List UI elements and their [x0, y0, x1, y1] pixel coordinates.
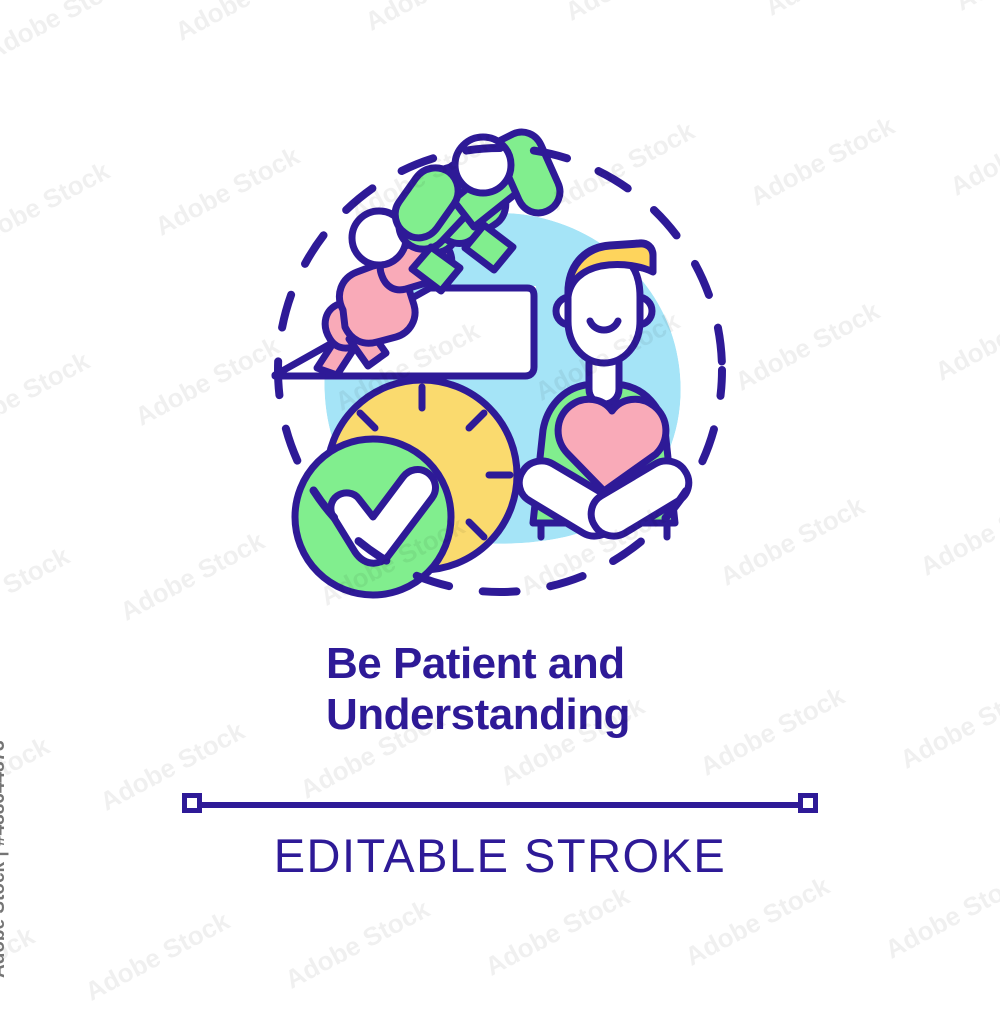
watermark-tile: Adobe Stock	[730, 295, 885, 397]
watermark-tile: Adobe Stock	[0, 540, 75, 642]
watermark-tile: Adobe Stock	[0, 345, 95, 447]
watermark-tile: Adobe Stock	[915, 480, 1000, 582]
watermark-tile: Adobe Stock	[760, 0, 915, 22]
watermark-tile: Adobe Stock	[80, 905, 235, 1007]
page-title: Be Patient and Understanding	[326, 638, 946, 740]
watermark-tile: Adobe Stock	[745, 110, 900, 212]
stroke-bar-line	[192, 802, 808, 808]
title-line-1: Be Patient and	[326, 638, 946, 689]
editable-stroke-label: EDITABLE STROKE	[0, 828, 1000, 883]
watermark-tile: Adobe Stock	[115, 525, 270, 627]
watermark-credit: Adobe Stock | #488644873	[0, 740, 10, 978]
watermark-tile: Adobe Stock	[945, 100, 1000, 202]
watermark-tile: Adobe Stock	[0, 155, 115, 257]
stroke-handle-right-icon[interactable]	[798, 793, 818, 813]
title-line-2: Understanding	[326, 689, 946, 740]
watermark-tile: Adobe Stock	[170, 0, 325, 47]
canvas: Be Patient and Understanding EDITABLE ST…	[0, 0, 1000, 1000]
watermark-tile: Adobe Stock	[950, 0, 1000, 17]
concept-illustration	[255, 125, 745, 615]
watermark-tile: Adobe Stock	[360, 0, 515, 37]
watermark-tile: Adobe Stock	[280, 893, 435, 995]
watermark-tile: Adobe Stock	[480, 880, 635, 982]
watermark-tile: Adobe Stock	[0, 0, 135, 67]
watermark-tile: Adobe Stock	[560, 0, 715, 27]
watermark-tile: Adobe Stock	[680, 870, 835, 972]
editable-stroke-bar	[182, 793, 818, 817]
watermark-tile: Adobe Stock	[930, 285, 1000, 387]
stroke-handle-left-icon[interactable]	[182, 793, 202, 813]
checkmark-badge	[295, 439, 451, 595]
